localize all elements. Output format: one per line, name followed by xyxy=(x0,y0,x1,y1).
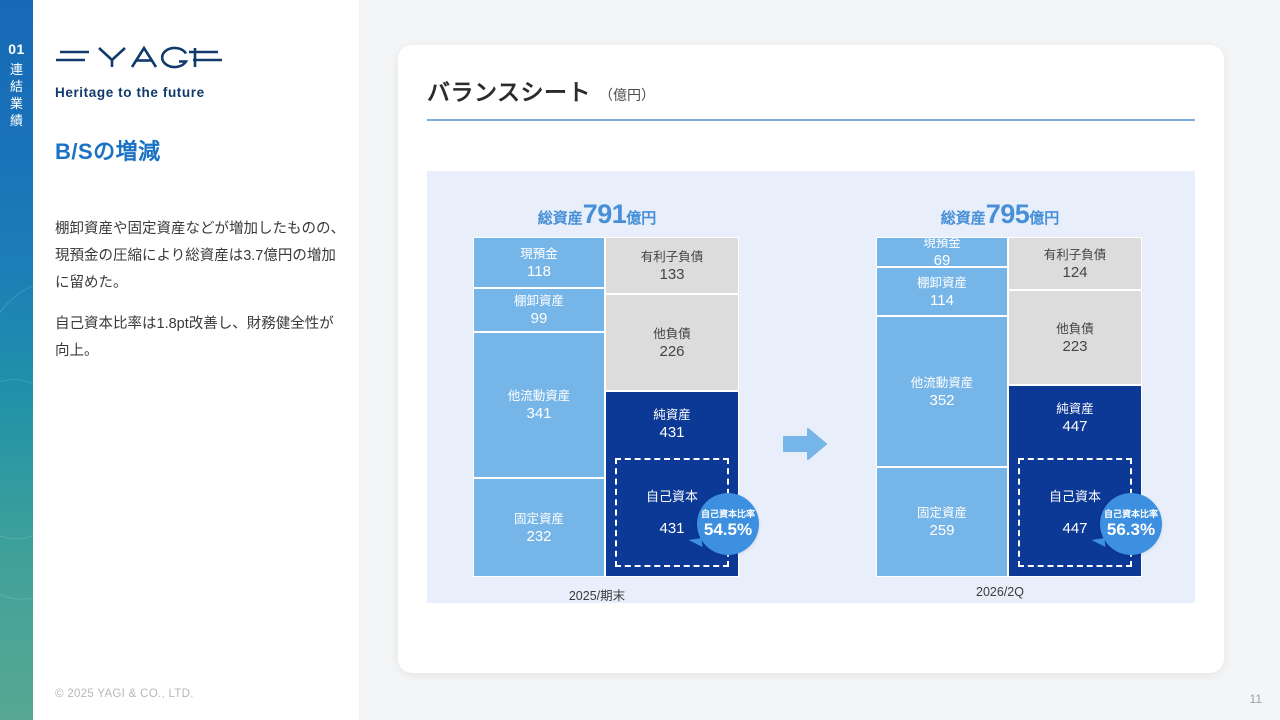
section-name-char: 業 xyxy=(0,95,33,112)
segment-value: 223 xyxy=(1062,338,1087,356)
segment-inventory-2025: 棚卸資産 99 xyxy=(473,288,605,332)
total-suffix: 億円 xyxy=(1029,210,1059,227)
left-panel: Heritage to the future B/Sの増減 棚卸資産や固定資産な… xyxy=(33,0,359,720)
equity-value: 447 xyxy=(1062,520,1087,538)
total-prefix: 総資産 xyxy=(941,210,986,227)
segment-name: 有利子負債 xyxy=(1044,246,1107,264)
segment-value: 69 xyxy=(934,252,951,267)
segment-inventory-2026: 棚卸資産 114 xyxy=(876,267,1008,316)
brand-logo: Heritage to the future xyxy=(55,42,285,100)
chart-title: バランスシート xyxy=(427,73,591,107)
copyright: © 2025 YAGI & CO., LTD. xyxy=(55,688,194,700)
segment-cash-2025: 現預金 118 xyxy=(473,237,605,288)
segment-name: 現預金 xyxy=(923,237,961,252)
total-assets-label-2026: 総資産795億円 xyxy=(840,199,1160,230)
chart-group-2026: 総資産795億円 現預金 69 棚卸資産 114 xyxy=(840,171,1160,603)
total-suffix: 億円 xyxy=(626,210,656,227)
section-name-char: 績 xyxy=(0,112,33,129)
segment-other-current-assets-2025: 他流動資産 341 xyxy=(473,332,605,478)
segment-name: 他負債 xyxy=(1056,320,1094,338)
segment-other-liabilities-2026: 他負債 223 xyxy=(1008,290,1142,385)
segment-value: 431 xyxy=(606,424,738,442)
segment-name: 他負債 xyxy=(653,325,691,343)
chart-group-2025: 総資産791億円 現預金 118 棚卸資産 99 xyxy=(437,171,757,603)
segment-name: 他流動資産 xyxy=(508,387,571,405)
section-name-char: 連 xyxy=(0,61,33,78)
net-assets-header: 純資産 447 xyxy=(1009,400,1141,436)
equity-ratio-bubble-2025: 自己資本比率 54.5% xyxy=(697,493,759,555)
arrow-right-icon xyxy=(782,427,828,461)
axis-label-2025: 2025/期末 xyxy=(437,585,757,604)
equity-name: 自己資本 xyxy=(646,488,698,506)
segment-value: 232 xyxy=(526,528,551,546)
equity-ratio-bubble-2026: 自己資本比率 56.3% xyxy=(1100,493,1162,555)
assets-column-2026: 現預金 69 棚卸資産 114 他流動資産 352 xyxy=(876,237,1008,577)
slide: 01 連 結 業 績 xyxy=(0,0,1280,720)
segment-name: 棚卸資産 xyxy=(514,292,564,310)
chart-title-block: バランスシート （億円） xyxy=(427,73,655,107)
segment-value: 114 xyxy=(930,292,954,310)
equity-name: 自己資本 xyxy=(1049,488,1101,506)
segment-name: 有利子負債 xyxy=(641,248,704,266)
equity-value: 431 xyxy=(659,520,684,538)
equity-ratio-label: 自己資本比率 xyxy=(1104,509,1158,520)
logo-tagline: Heritage to the future xyxy=(55,85,285,100)
segment-name: 他流動資産 xyxy=(911,374,974,392)
section-number: 01 xyxy=(0,40,33,58)
net-assets-header: 純資産 431 xyxy=(606,406,738,442)
segment-fixed-assets-2026: 固定資産 259 xyxy=(876,467,1008,577)
section-name-char: 結 xyxy=(0,78,33,95)
chart-unit: （億円） xyxy=(599,85,655,105)
segment-value: 352 xyxy=(929,392,954,410)
total-prefix: 総資産 xyxy=(538,210,583,227)
segment-other-liabilities-2025: 他負債 226 xyxy=(605,294,739,391)
segment-value: 124 xyxy=(1062,264,1087,282)
segment-name: 純資産 xyxy=(1009,400,1141,418)
axis-label-2026: 2026/2Q xyxy=(840,585,1160,599)
segment-other-current-assets-2026: 他流動資産 352 xyxy=(876,316,1008,467)
segment-value: 259 xyxy=(929,522,954,540)
total-value: 791 xyxy=(583,199,627,229)
decorative-swirl-secondary xyxy=(0,369,33,612)
section-tag: 01 連 結 業 績 xyxy=(0,40,33,129)
segment-name: 純資産 xyxy=(606,406,738,424)
chart-card: バランスシート （億円） 総資産791億円 現預金 118 xyxy=(398,45,1224,673)
stacked-columns-2025: 現預金 118 棚卸資産 99 他流動資産 341 xyxy=(473,237,739,577)
segment-interest-bearing-debt-2026: 有利子負債 124 xyxy=(1008,237,1142,290)
segment-cash-2026: 現預金 69 xyxy=(876,237,1008,267)
segment-value: 341 xyxy=(526,405,551,423)
segment-value: 226 xyxy=(659,343,684,361)
segment-value: 447 xyxy=(1009,418,1141,436)
content-area: バランスシート （億円） 総資産791億円 現預金 118 xyxy=(359,0,1280,720)
segment-name: 棚卸資産 xyxy=(917,274,967,292)
liabilities-column-2025: 有利子負債 133 他負債 226 純資産 431 xyxy=(605,237,739,577)
segment-name: 固定資産 xyxy=(514,510,564,528)
segment-fixed-assets-2025: 固定資産 232 xyxy=(473,478,605,577)
body-paragraph: 棚卸資産や固定資産などが増加したものの、現預金の圧縮により総資産は3.7億円の増… xyxy=(55,216,347,297)
page-number: 11 xyxy=(1250,692,1262,706)
body-copy: 棚卸資産や固定資産などが増加したものの、現預金の圧縮により総資産は3.7億円の増… xyxy=(55,216,347,365)
segment-name: 現預金 xyxy=(520,245,558,263)
segment-name: 固定資産 xyxy=(917,504,967,522)
stacked-columns-2026: 現預金 69 棚卸資産 114 他流動資産 352 xyxy=(876,237,1142,577)
segment-interest-bearing-debt-2025: 有利子負債 133 xyxy=(605,237,739,294)
title-divider xyxy=(427,119,1195,121)
total-assets-label-2025: 総資産791億円 xyxy=(437,199,757,230)
segment-value: 99 xyxy=(531,310,548,328)
total-value: 795 xyxy=(986,199,1030,229)
liabilities-column-2026: 有利子負債 124 他負債 223 純資産 447 xyxy=(1008,237,1142,577)
section-name: 連 結 業 績 xyxy=(0,61,33,129)
page-title: B/Sの増減 xyxy=(55,134,161,166)
body-paragraph: 自己資本比率は1.8pt改善し、財務健全性が向上。 xyxy=(55,311,347,365)
equity-ratio-value: 54.5% xyxy=(704,520,752,540)
chart-plot: 総資産791億円 現預金 118 棚卸資産 99 xyxy=(427,171,1195,603)
equity-ratio-label: 自己資本比率 xyxy=(701,509,755,520)
segment-value: 133 xyxy=(659,266,684,284)
segment-value: 118 xyxy=(527,263,551,281)
yagi-logo-icon xyxy=(55,42,223,74)
equity-ratio-value: 56.3% xyxy=(1107,520,1155,540)
assets-column-2025: 現預金 118 棚卸資産 99 他流動資産 341 xyxy=(473,237,605,577)
